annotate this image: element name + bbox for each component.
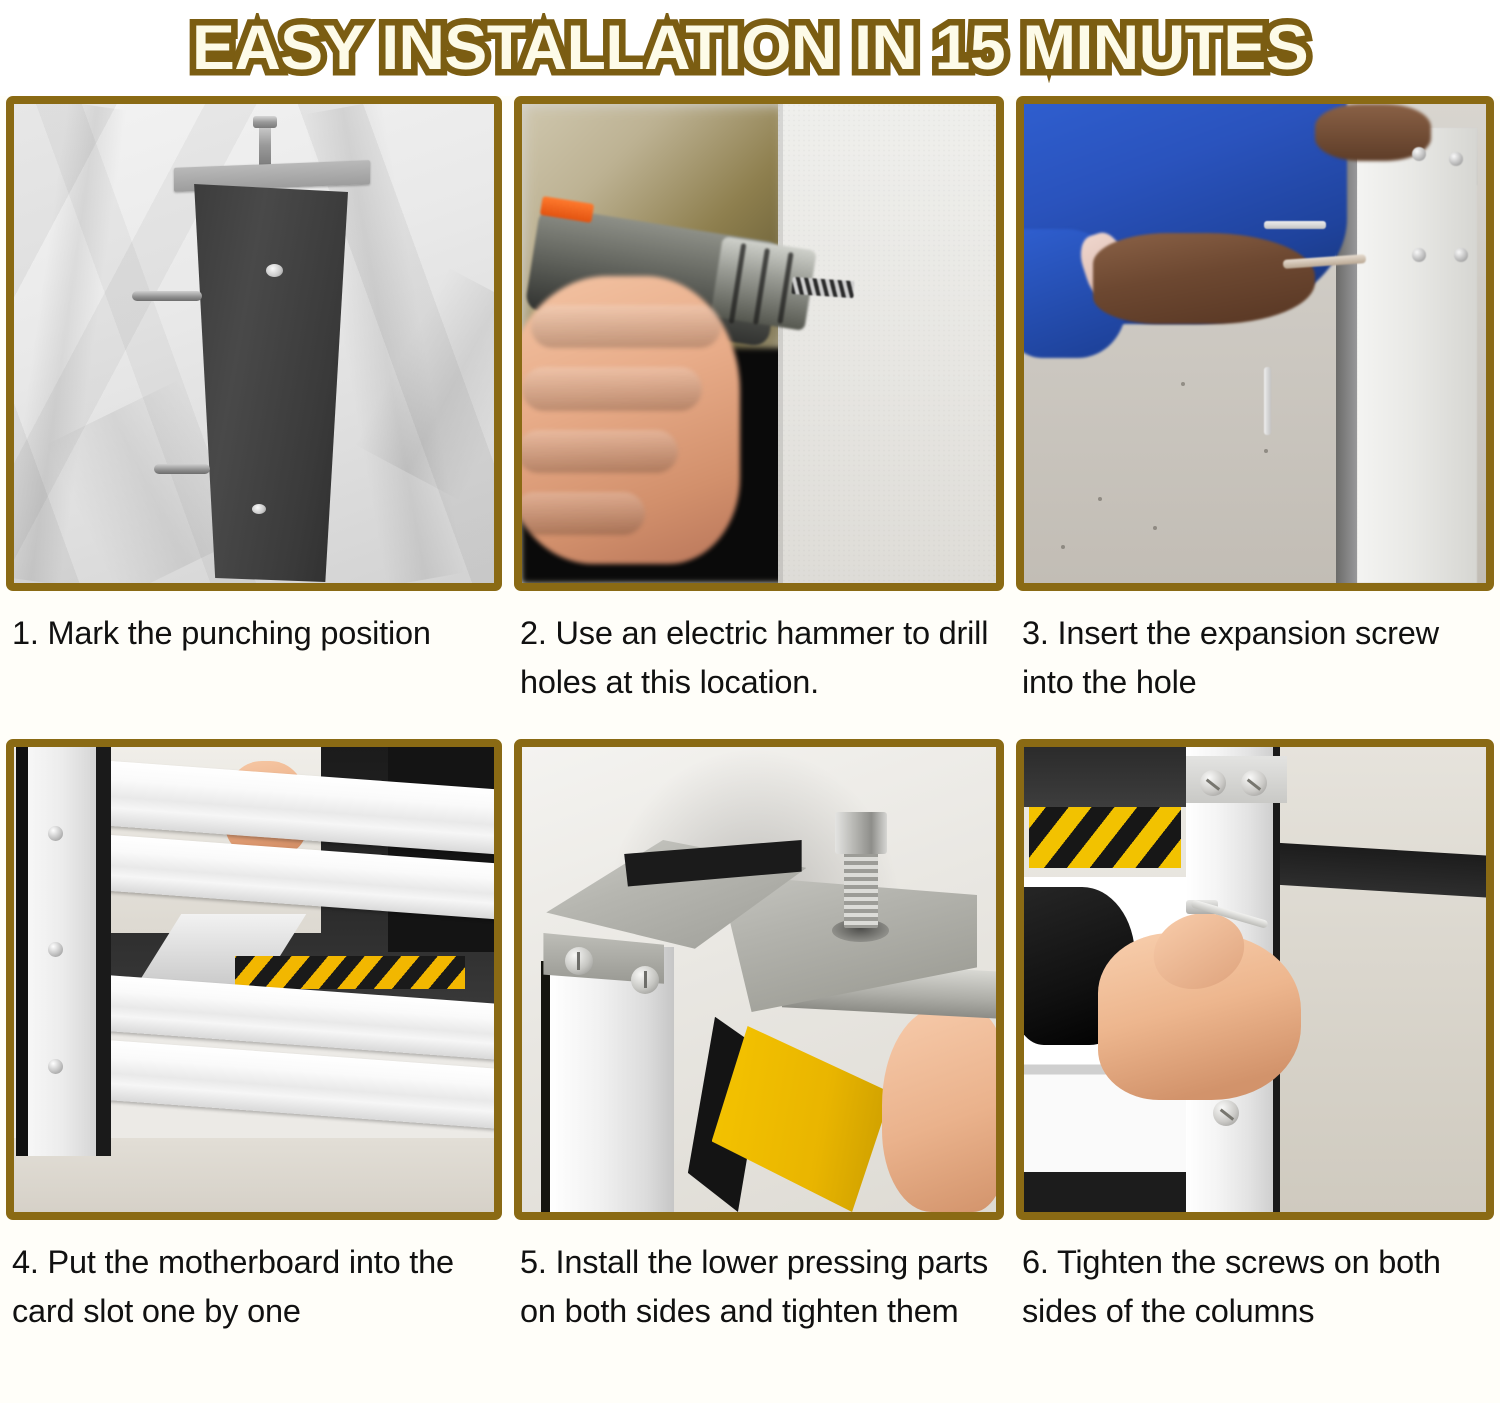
step-6-cell xyxy=(1010,739,1500,1220)
instruction-steps-grid: 1. Mark the punching position 2. Use an … xyxy=(0,96,1500,1370)
step-1-cell xyxy=(0,96,508,591)
step-5-photo-frame xyxy=(514,739,1004,1220)
step-6-photo-frame xyxy=(1016,739,1494,1220)
step-3-cell xyxy=(1010,96,1500,591)
step-3-photo-insert-expansion-screw xyxy=(1024,104,1486,583)
step-4-photo-put-motherboard-in-card-slot xyxy=(14,747,494,1212)
title-banner: EASY INSTALLATION IN 15 MINUTES xyxy=(0,0,1500,96)
step-5-cell xyxy=(508,739,1010,1220)
steps-row-2-captions: 4. Put the motherboard into the card slo… xyxy=(0,1220,1500,1370)
step-1-caption: 1. Mark the punching position xyxy=(6,591,502,658)
step-4-caption: 4. Put the motherboard into the card slo… xyxy=(6,1220,502,1337)
page-title: EASY INSTALLATION IN 15 MINUTES xyxy=(186,17,1314,80)
step-3-photo-frame xyxy=(1016,96,1494,591)
step-2-caption: 2. Use an electric hammer to drill holes… xyxy=(514,591,1004,708)
step-1-photo-frame xyxy=(6,96,502,591)
step-6-photo-tighten-screws-on-columns xyxy=(1024,747,1486,1212)
step-6-caption: 6. Tighten the screws on both sides of t… xyxy=(1016,1220,1494,1337)
steps-row-1-captions: 1. Mark the punching position 2. Use an … xyxy=(0,591,1500,739)
step-2-photo-drill-holes xyxy=(522,104,996,583)
steps-row-2-photos xyxy=(0,739,1500,1220)
step-2-cell xyxy=(508,96,1010,591)
step-2-photo-frame xyxy=(514,96,1004,591)
step-5-photo-install-lower-pressing-parts xyxy=(522,747,996,1212)
steps-row-1-photos xyxy=(0,96,1500,591)
step-4-cell xyxy=(0,739,508,1220)
step-5-caption: 5. Install the lower pressing parts on b… xyxy=(514,1220,1004,1337)
step-1-photo-mark-punching-position xyxy=(14,104,494,583)
step-4-photo-frame xyxy=(6,739,502,1220)
step-3-caption: 3. Insert the expansion screw into the h… xyxy=(1016,591,1494,708)
